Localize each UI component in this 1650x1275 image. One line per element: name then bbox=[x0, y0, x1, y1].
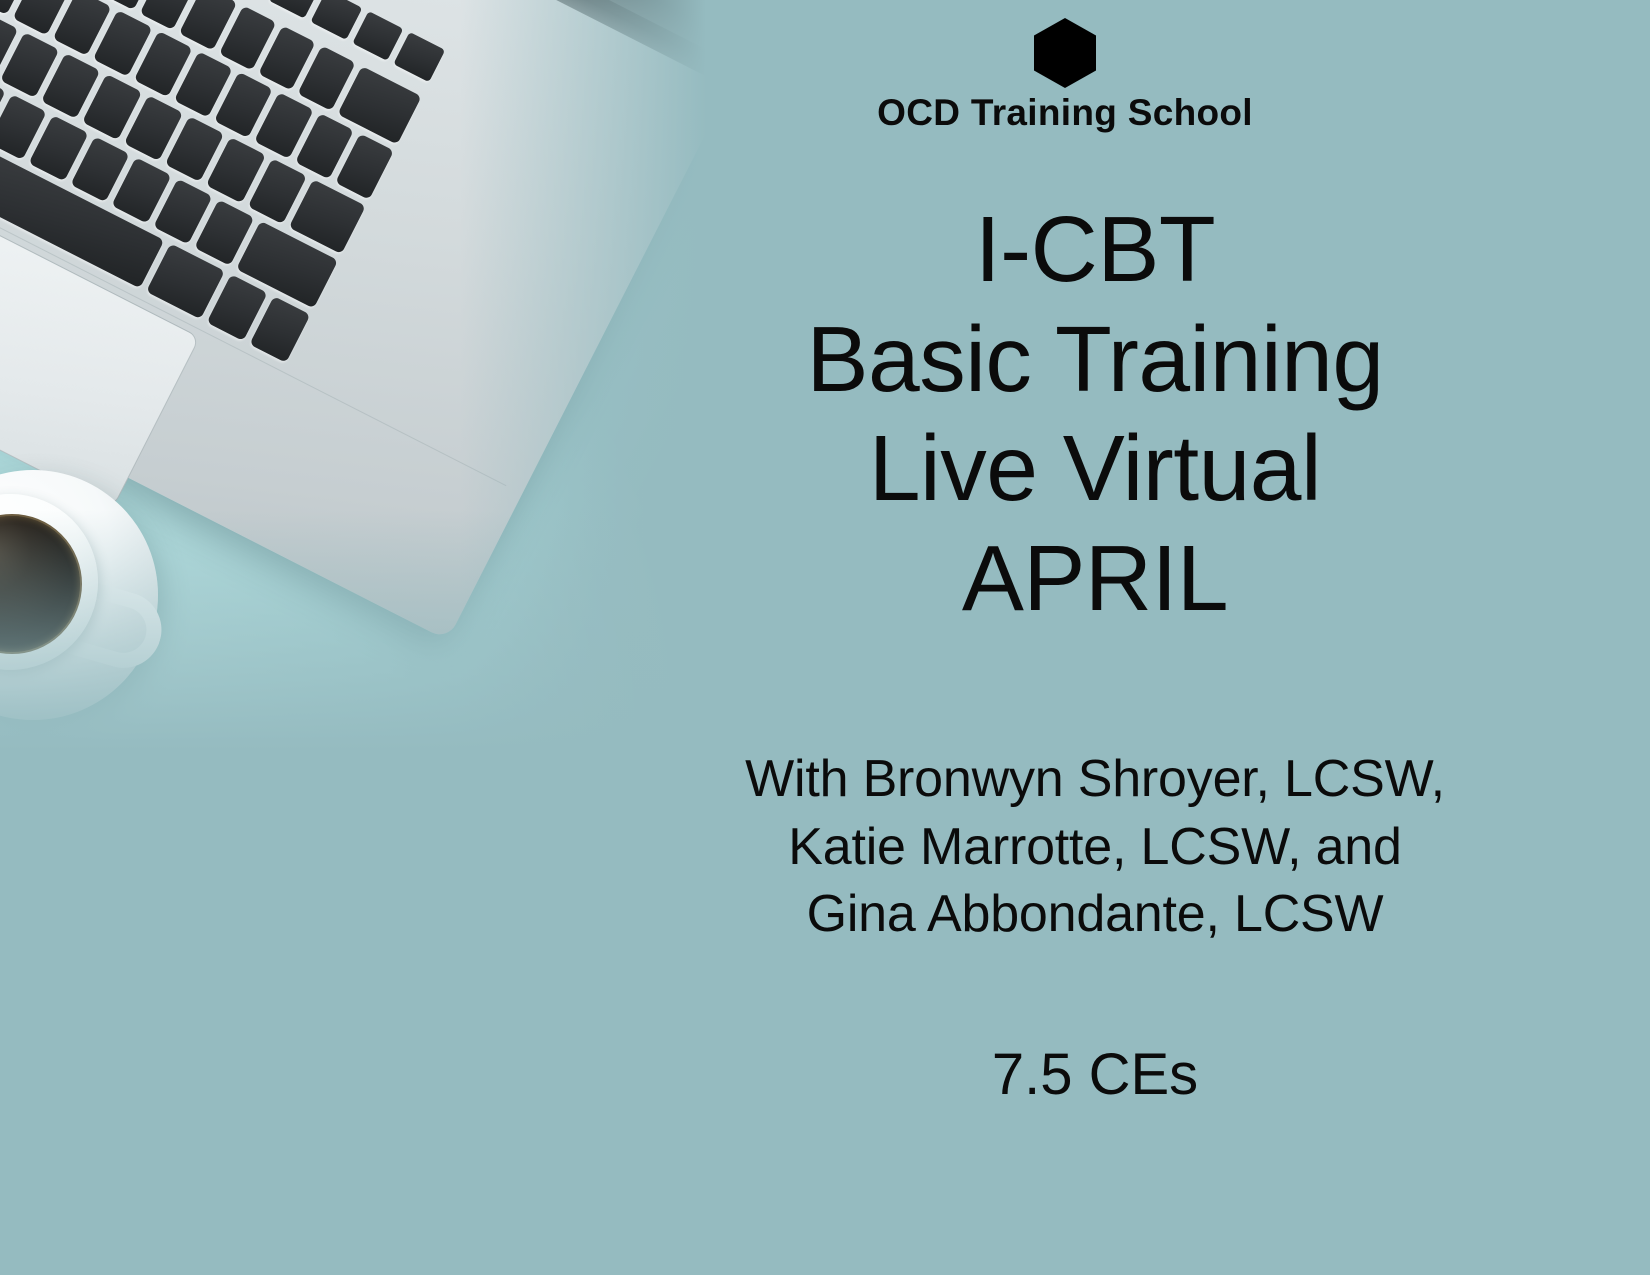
ce-credits: 7.5 CEs bbox=[700, 1041, 1490, 1108]
event-title: I-CBT Basic Training Live Virtual APRIL bbox=[700, 195, 1490, 634]
presenter-line-2: Katie Marrotte, LCSW, and bbox=[700, 814, 1490, 882]
presenter-line-3: Gina Abbondante, LCSW bbox=[700, 881, 1490, 949]
hexagon-icon bbox=[1034, 18, 1096, 88]
desk-photo bbox=[0, 0, 760, 790]
title-line-4: APRIL bbox=[700, 524, 1490, 634]
promo-graphic: OCD Training School I-CBT Basic Training… bbox=[0, 0, 1650, 1275]
brand-logo: OCD Training School bbox=[845, 14, 1285, 131]
title-line-2: Basic Training bbox=[700, 305, 1490, 415]
presenter-line-1: With Bronwyn Shroyer, LCSW, bbox=[700, 746, 1490, 814]
title-line-1: I-CBT bbox=[700, 195, 1490, 305]
presenter-list: With Bronwyn Shroyer, LCSW, Katie Marrot… bbox=[700, 746, 1490, 949]
promo-content: I-CBT Basic Training Live Virtual APRIL … bbox=[700, 195, 1490, 1108]
title-line-3: Live Virtual bbox=[700, 414, 1490, 524]
photo-fade-bottom bbox=[0, 510, 760, 790]
brand-name: OCD Training School bbox=[845, 94, 1285, 131]
